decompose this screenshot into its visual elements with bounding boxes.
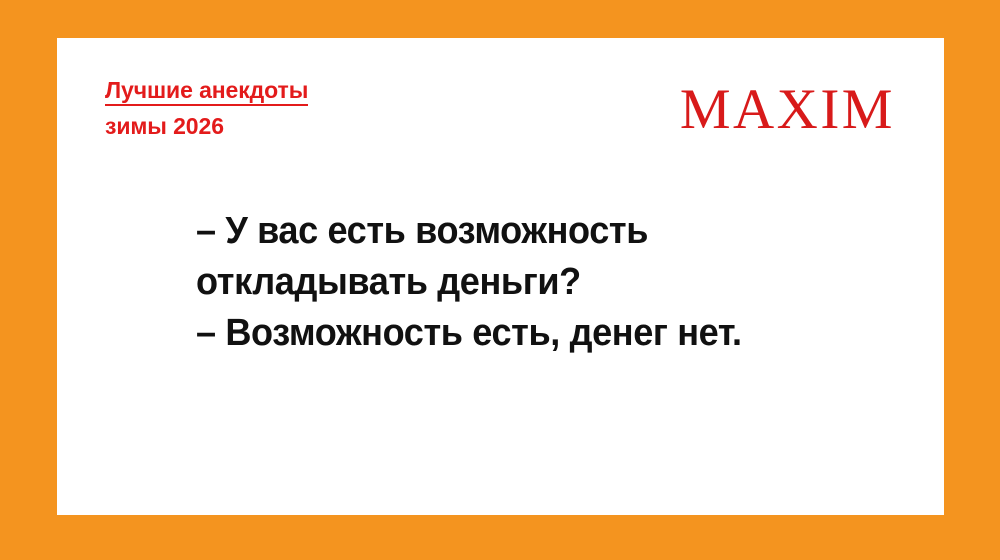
- kicker-line-1: Лучшие анекдоты: [105, 78, 308, 106]
- card-header: Лучшие анекдоты зимы 2026 MAXIM: [105, 78, 895, 188]
- joke-line-1: – У вас есть возможность: [196, 206, 861, 257]
- maxim-logo: MAXIM: [680, 81, 895, 139]
- kicker-line-2: зимы 2026: [105, 114, 308, 138]
- poster-canvas: Лучшие анекдоты зимы 2026 MAXIM – У вас …: [0, 0, 1000, 560]
- joke-line-3: – Возможность есть, денег нет.: [196, 308, 861, 359]
- joke-line-2: откладывать деньги?: [196, 257, 861, 308]
- kicker-heading: Лучшие анекдоты зимы 2026: [105, 78, 308, 138]
- white-card: Лучшие анекдоты зимы 2026 MAXIM – У вас …: [57, 38, 944, 515]
- joke-text-block: – У вас есть возможность откладывать ден…: [196, 206, 896, 359]
